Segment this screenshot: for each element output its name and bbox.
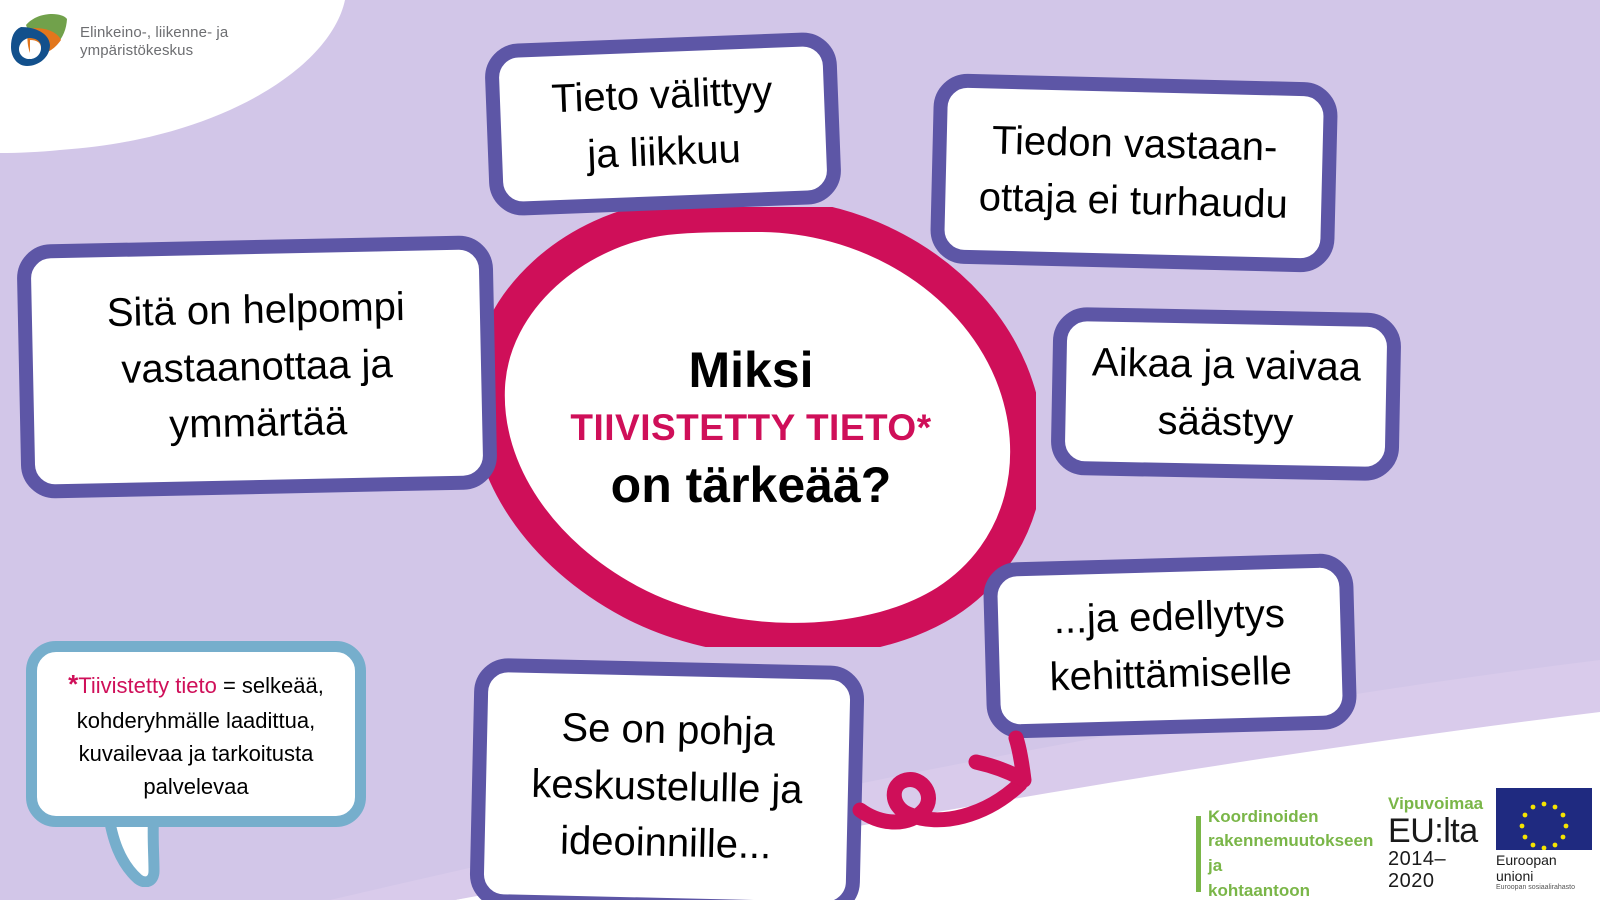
footnote-definition-bubble: *Tiivistetty tieto = selkeää, kohderyhmä… bbox=[26, 641, 366, 827]
slide-canvas: Elinkeino-, liikenne- ja ympäristökeskus… bbox=[0, 0, 1600, 900]
eu-fund-label: Euroopan sosiaalirahasto bbox=[1496, 884, 1575, 892]
bubble-text: Se on pohja keskustelulle ja ideoinnille… bbox=[529, 699, 804, 876]
ely-wordmark: Elinkeino-, liikenne- ja ympäristökeskus bbox=[80, 24, 228, 59]
bubble-aikaa-ja-vaivaa[interactable]: Aikaa ja vaivaa säästyy bbox=[1050, 307, 1401, 482]
eu-name-label: Euroopan unioni bbox=[1496, 852, 1592, 884]
bubble-sita-on-helpompi[interactable]: Sitä on helpompi vastaanottaa ja ymmärtä… bbox=[16, 235, 497, 499]
bubble-text: Sitä on helpompi vastaanottaa ja ymmärtä… bbox=[106, 279, 407, 456]
center-title-line1: Miksi bbox=[688, 345, 813, 395]
bubble-tieto-valittyy[interactable]: Tieto välittyy ja liikkuu bbox=[484, 31, 842, 216]
footnote-term: Tiivistetty tieto bbox=[78, 673, 217, 698]
vipuvoimaa-years: 2014–2020 bbox=[1388, 848, 1484, 892]
bubble-se-on-pohja[interactable]: Se on pohja keskustelulle ja ideoinnille… bbox=[469, 658, 865, 900]
center-title-line3: on tärkeää? bbox=[611, 460, 892, 510]
vipuvoimaa-eulta-logo: Vipuvoimaa EU:lta 2014–2020 bbox=[1388, 795, 1484, 892]
curly-arrow-icon bbox=[852, 718, 1062, 834]
koordinoiden-logo: Koordinoiden rakennemuutokseen ja kohtaa… bbox=[1196, 816, 1376, 892]
eu-flag-logo: Euroopan unioni Euroopan sosiaalirahasto bbox=[1496, 788, 1592, 892]
eu-flag-icon bbox=[1496, 788, 1592, 850]
green-bar-icon bbox=[1196, 816, 1201, 892]
bubble-text: ...ja edellytys kehittämiselle bbox=[1047, 586, 1292, 706]
bubble-text: Tieto välittyy ja liikkuu bbox=[550, 63, 775, 185]
central-question-ellipse: Miksi TIIVISTETTY TIETO* on tärkeää? bbox=[466, 207, 1036, 647]
center-title-line2: TIIVISTETTY TIETO* bbox=[570, 409, 931, 446]
bubble-text: Aikaa ja vaivaa säästyy bbox=[1090, 335, 1361, 454]
bubble-ja-edellytys[interactable]: ...ja edellytys kehittämiselle bbox=[983, 553, 1358, 739]
footer-logo-strip: Koordinoiden rakennemuutokseen ja kohtaa… bbox=[1196, 800, 1592, 892]
ely-leaf-icon bbox=[8, 9, 70, 75]
eulta-label: EU:lta bbox=[1388, 814, 1478, 848]
footnote-text: *Tiivistetty tieto = selkeää, kohderyhmä… bbox=[49, 665, 343, 803]
bubble-tiedon-vastaanottaja[interactable]: Tiedon vastaan- ottaja ei turhaudu bbox=[930, 73, 1339, 273]
koordinoiden-text: Koordinoiden rakennemuutokseen ja kohtaa… bbox=[1208, 805, 1376, 900]
footnote-asterisk: * bbox=[68, 669, 78, 699]
bubble-text: Tiedon vastaan- ottaja ei turhaudu bbox=[978, 112, 1290, 233]
ely-keskus-logo: Elinkeino-, liikenne- ja ympäristökeskus bbox=[8, 6, 308, 78]
